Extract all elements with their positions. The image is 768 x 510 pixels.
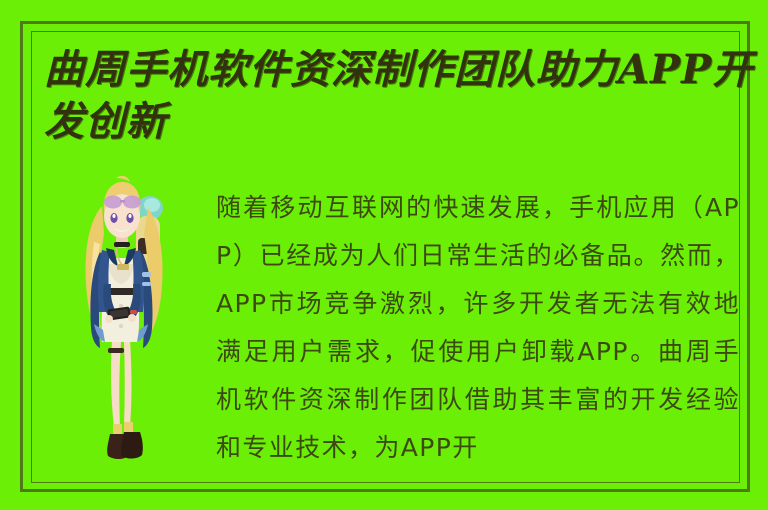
thigh-garter [108,348,124,353]
shoes [107,432,143,459]
character-illustration [72,172,178,474]
page-title: 曲周手机软件资深制作团队助力APP开发创新 [44,44,760,148]
poster-canvas: 曲周手机软件资深制作团队助力APP开发创新 [0,0,768,510]
wristband [130,310,137,314]
head [104,176,141,238]
choker [114,242,130,247]
article-body-text: 随着移动互联网的快速发展，手机应用（APP）已经成为人们日常生活的必备品。然而，… [216,184,740,482]
legs [108,340,132,428]
